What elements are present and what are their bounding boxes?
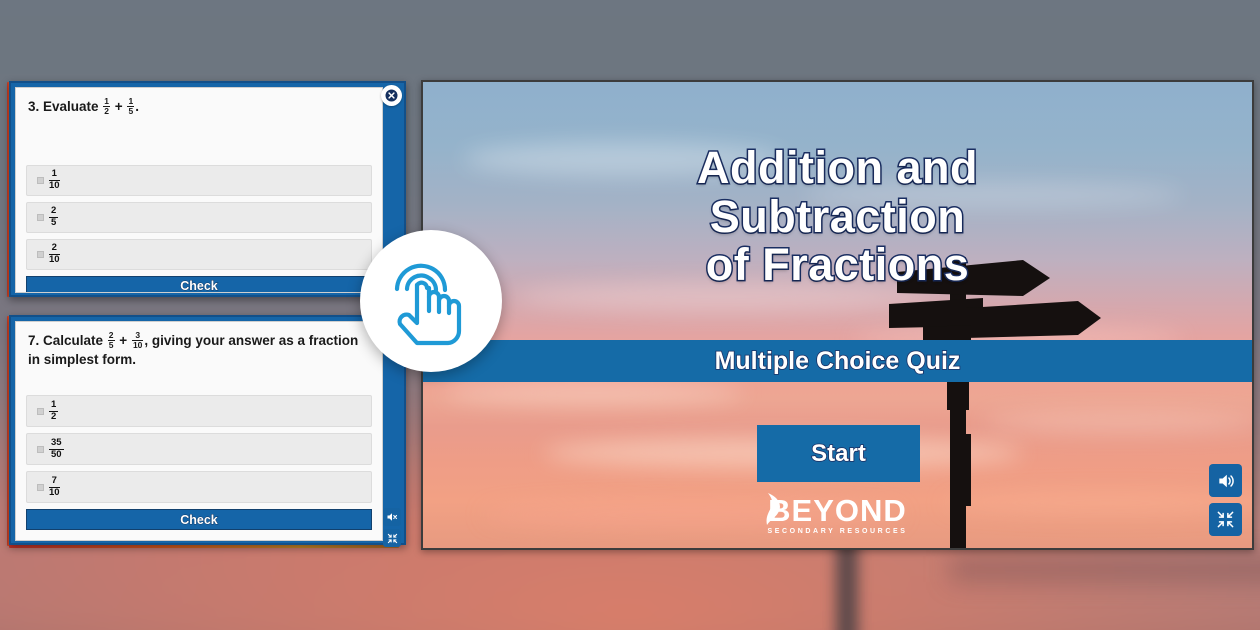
answer-option[interactable]: 7 10 xyxy=(26,471,372,503)
option-denominator: 10 xyxy=(49,181,60,191)
checkbox-icon[interactable] xyxy=(37,251,44,258)
check-button-q3[interactable]: Check xyxy=(26,276,372,293)
checkbox-icon[interactable] xyxy=(37,446,44,453)
checkbox-icon[interactable] xyxy=(37,408,44,415)
answer-options-q3: 1 10 2 5 2 10 xyxy=(16,165,382,270)
option-fraction: 7 10 xyxy=(49,476,60,498)
check-button-label: Check xyxy=(180,279,218,293)
quiz-title: Addition and Subtraction of Fractions xyxy=(423,144,1252,290)
option-fraction: 2 5 xyxy=(49,206,58,228)
beyond-logo-word: BEYOND xyxy=(767,495,907,526)
answer-option[interactable]: 2 10 xyxy=(26,239,372,270)
quiz-title-line-2: Subtraction xyxy=(423,193,1252,242)
answer-option[interactable]: 2 5 xyxy=(26,202,372,233)
check-button-label: Check xyxy=(180,513,218,527)
question-prompt-prefix: 7. Calculate xyxy=(28,333,107,348)
flame-icon xyxy=(764,491,786,527)
operator: + xyxy=(119,333,127,348)
checkbox-icon[interactable] xyxy=(37,177,44,184)
click-indicator-bubble xyxy=(360,230,502,372)
exit-fullscreen-button[interactable] xyxy=(383,529,401,547)
fraction-a: 25 xyxy=(108,331,115,350)
desktop-screen: Addition and Subtraction of Fractions Mu… xyxy=(0,0,1260,630)
operator: + xyxy=(115,99,123,114)
answer-option[interactable]: 1 2 xyxy=(26,395,372,427)
close-icon xyxy=(384,88,399,103)
exit-fullscreen-icon xyxy=(1216,510,1235,529)
option-denominator: 10 xyxy=(49,488,60,498)
exit-fullscreen-icon xyxy=(387,533,398,544)
option-denominator: 2 xyxy=(49,412,58,422)
fraction-b: 310 xyxy=(132,331,143,350)
fraction-b-denominator: 10 xyxy=(132,341,143,350)
wallpaper-horizon-blur xyxy=(950,556,1260,582)
answer-option[interactable]: 1 10 xyxy=(26,165,372,196)
check-button-q7[interactable]: Check xyxy=(26,509,372,530)
exit-fullscreen-button[interactable] xyxy=(1209,503,1242,536)
fraction-a-denominator: 5 xyxy=(108,341,115,350)
quiz-title-line-1: Addition and xyxy=(423,144,1252,193)
checkbox-icon[interactable] xyxy=(37,484,44,491)
question-card-q7: 7. Calculate 25 + 310, giving your answe… xyxy=(9,315,406,545)
beyond-logo-tagline: SECONDARY RESOURCES xyxy=(767,528,907,535)
fraction-b: 15 xyxy=(127,97,134,116)
volume-icon xyxy=(1216,471,1236,491)
quiz-subtitle-banner: Multiple Choice Quiz xyxy=(423,340,1252,382)
quiz-title-line-3: of Fractions xyxy=(423,241,1252,290)
fraction-b-denominator: 5 xyxy=(127,107,134,116)
tap-hand-icon xyxy=(379,249,483,353)
option-denominator: 10 xyxy=(49,255,60,265)
option-fraction: 2 10 xyxy=(49,243,60,265)
quiz-subtitle-label: Multiple Choice Quiz xyxy=(715,347,961,376)
beyond-logo: BEYOND SECONDARY RESOURCES xyxy=(423,495,1252,535)
answer-options-q7: 1 2 35 50 7 10 xyxy=(16,395,382,503)
question-card-q3: 3. Evaluate 12 + 15. 1 10 2 5 xyxy=(9,81,406,297)
option-fraction: 1 10 xyxy=(49,169,60,191)
answer-option[interactable]: 35 50 xyxy=(26,433,372,465)
quiz-player-window: Addition and Subtraction of Fractions Mu… xyxy=(421,80,1254,550)
option-fraction: 1 2 xyxy=(49,400,58,422)
start-button[interactable]: Start xyxy=(757,425,920,482)
close-button[interactable] xyxy=(381,85,402,106)
mute-icon xyxy=(386,511,398,523)
fraction-a-denominator: 2 xyxy=(103,107,110,116)
mini-player-controls xyxy=(383,508,401,547)
volume-button[interactable] xyxy=(1209,464,1242,497)
question-prompt-prefix: 3. Evaluate xyxy=(28,99,102,114)
checkbox-icon[interactable] xyxy=(37,214,44,221)
player-controls xyxy=(1209,464,1242,536)
question-prompt-q3: 3. Evaluate 12 + 15. xyxy=(16,88,382,117)
question-prompt-suffix: . xyxy=(135,99,139,114)
start-button-label: Start xyxy=(811,440,866,468)
option-denominator: 5 xyxy=(49,218,58,228)
option-fraction: 35 50 xyxy=(49,438,64,460)
option-denominator: 50 xyxy=(49,450,64,460)
fraction-a: 12 xyxy=(103,97,110,116)
question-prompt-q7: 7. Calculate 25 + 310, giving your answe… xyxy=(16,322,382,368)
mute-button[interactable] xyxy=(383,508,401,526)
